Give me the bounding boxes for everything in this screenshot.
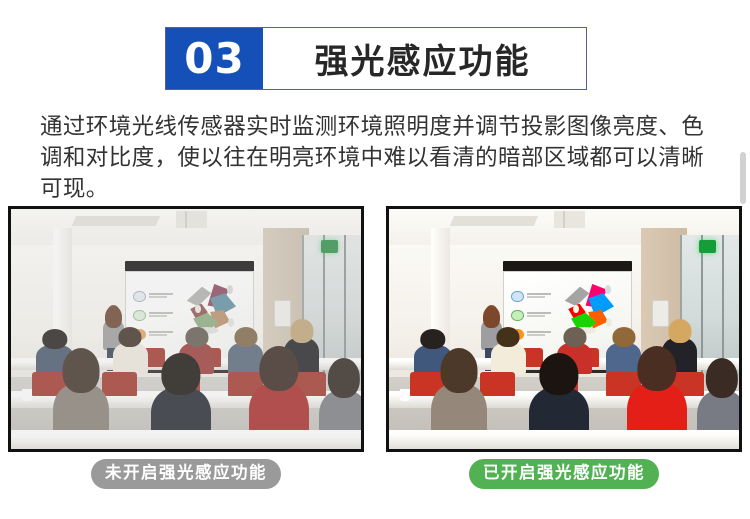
person-head (420, 329, 445, 349)
classroom-scene-off (11, 209, 361, 449)
bullet-text-line (149, 315, 167, 316)
search-icon (511, 291, 523, 302)
recycle-icon (133, 310, 145, 321)
presenter-hair (105, 306, 122, 328)
bullet-text-line (527, 312, 551, 314)
person-head (234, 327, 257, 347)
audience-member (113, 327, 148, 373)
caption-slot-on: 已开启强光感应功能 (386, 458, 742, 490)
person-head (185, 327, 208, 347)
page-scrollbar-thumb[interactable] (740, 152, 746, 204)
bullet-text-line (149, 312, 173, 314)
ceiling-vent-icon (72, 216, 160, 226)
bullet-text-line (527, 315, 545, 316)
presenter-hair (483, 306, 500, 328)
slide-corner-icon (227, 285, 233, 294)
person-head (118, 327, 141, 347)
ceiling-light-icon (176, 211, 208, 228)
description-paragraph: 通过环境光线传感器实时监测环境照明度并调节投影图像亮度、色调和对比度，使以往在明… (40, 112, 712, 205)
classroom-scene-on (389, 209, 739, 449)
photo-frame-off (8, 206, 364, 452)
slide-center-icon (195, 305, 201, 314)
page-scrollbar-track[interactable] (742, 0, 748, 519)
bullet-text-line (527, 334, 545, 335)
person-head (161, 353, 200, 395)
person-head (637, 346, 676, 391)
bullet-text-line (527, 293, 551, 295)
list-item (133, 290, 174, 305)
exit-sign-icon (699, 240, 717, 253)
bullet-text-line (527, 331, 551, 333)
section-number-badge: 03 (166, 28, 263, 89)
desk-row-near (389, 430, 739, 449)
bullet-text-line (527, 296, 545, 297)
bullet-text-line (149, 296, 167, 297)
slide-center-icon (573, 305, 579, 314)
caption-row: 未开启强光感应功能 已开启强光感应功能 (8, 458, 742, 490)
status-badge-feature-on: 已开启强光感应功能 (469, 459, 659, 490)
bullet-text-line (149, 331, 173, 333)
search-icon (133, 291, 145, 302)
person-head (290, 319, 313, 342)
person-head (327, 358, 359, 398)
person-head (539, 353, 578, 395)
exit-sign-icon (321, 240, 339, 253)
person-head (612, 327, 635, 347)
person-head (705, 358, 737, 398)
status-badge-feature-off: 未开启强光感应功能 (91, 459, 281, 490)
list-item (133, 309, 174, 324)
audience-member (491, 327, 526, 373)
person-head (668, 319, 691, 342)
ceiling-light-icon (554, 211, 586, 228)
pie-slice-gray (565, 287, 590, 307)
list-item (511, 290, 552, 305)
pie-slice-gray (187, 287, 212, 307)
bullet-text-line (149, 293, 173, 295)
photo-frame-on (386, 206, 742, 452)
cup-icon (400, 389, 411, 401)
comparison-card-on (386, 206, 742, 452)
person-head (63, 348, 100, 392)
caption-slot-off: 未开启强光感应功能 (8, 458, 364, 490)
bullet-text-line (149, 334, 167, 335)
page-title: 强光感应功能 (263, 28, 586, 89)
person-head (496, 327, 519, 347)
person-body (491, 343, 526, 374)
person-head (441, 348, 478, 392)
person-head (563, 327, 586, 347)
comparison-row (8, 206, 742, 454)
person-head (42, 329, 67, 349)
list-item (511, 309, 552, 324)
slide-corner-icon (605, 285, 611, 294)
ceiling-vent-icon (450, 216, 538, 226)
recycle-icon (511, 310, 523, 321)
cup-icon (22, 389, 33, 401)
person-head (259, 346, 298, 391)
person-body (113, 343, 148, 374)
desk-row-near (11, 430, 361, 449)
comparison-card-off (8, 206, 364, 452)
section-header: 03 强光感应功能 (165, 27, 587, 90)
